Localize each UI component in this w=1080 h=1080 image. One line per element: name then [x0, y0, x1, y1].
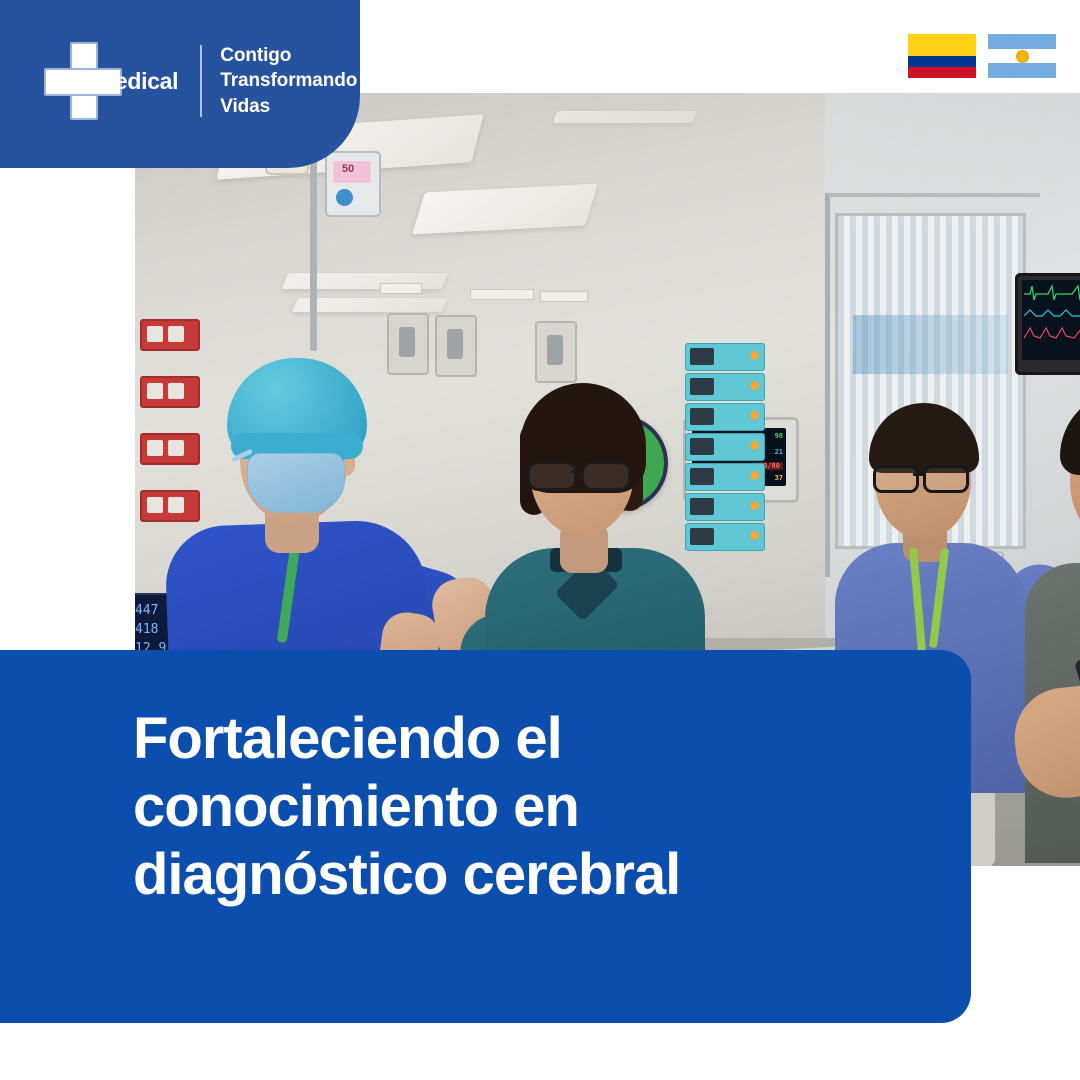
wall-label — [380, 283, 422, 294]
medical-gas-outlet — [435, 315, 477, 377]
brand-header: Medical Contigo Transformando Vidas — [0, 0, 360, 168]
pump-value: 50 — [342, 163, 354, 175]
syringe-pump-stack — [685, 343, 763, 558]
ceiling-light-panel — [553, 111, 697, 123]
tagline-line-3: Vidas — [220, 94, 357, 119]
flag-group — [908, 34, 1056, 78]
surgical-mask — [247, 453, 345, 513]
eyeglasses-icon — [873, 465, 973, 487]
secondary-monitor-screen — [1022, 280, 1080, 360]
wall-outlet-box — [140, 433, 200, 465]
headline-line-2: conocimiento en — [133, 773, 923, 841]
brand-name: Medical — [96, 68, 178, 95]
headline-title: Fortaleciendo el conocimiento en diagnós… — [133, 705, 923, 909]
secondary-monitor — [1015, 273, 1080, 375]
pump-display: 50 — [333, 161, 371, 183]
tagline-line-1: Contigo — [220, 43, 357, 68]
eyeglasses-icon — [527, 461, 637, 485]
wall-outlet-box — [140, 376, 200, 408]
infusion-pump: 50 — [325, 151, 381, 217]
ceiling-light-panel — [281, 273, 448, 289]
wall-label — [470, 289, 534, 300]
headline-line-3: diagnóstico cerebral — [133, 841, 923, 909]
argentina-flag — [988, 34, 1056, 78]
headline-banner: Fortaleciendo el conocimiento en diagnós… — [0, 650, 971, 1023]
medical-gas-outlet — [387, 313, 429, 375]
wall-label — [540, 291, 588, 302]
wall-outlet-box — [140, 319, 200, 351]
medical-gas-outlet — [535, 321, 577, 383]
logo-lockup: Medical Contigo Transformando Vidas — [44, 42, 357, 120]
pump-dial — [336, 189, 353, 206]
logo-divider — [200, 45, 202, 117]
colombia-flag — [908, 34, 976, 78]
brand-tagline: Contigo Transformando Vidas — [220, 43, 357, 118]
wall-outlet-box — [140, 490, 200, 522]
sun-of-may-icon — [1016, 50, 1029, 63]
poster-canvas: 50 98 21 120/80 — [0, 0, 1080, 1080]
tagline-line-2: Transformando — [220, 68, 357, 93]
headline-line-1: Fortaleciendo el — [133, 705, 923, 773]
